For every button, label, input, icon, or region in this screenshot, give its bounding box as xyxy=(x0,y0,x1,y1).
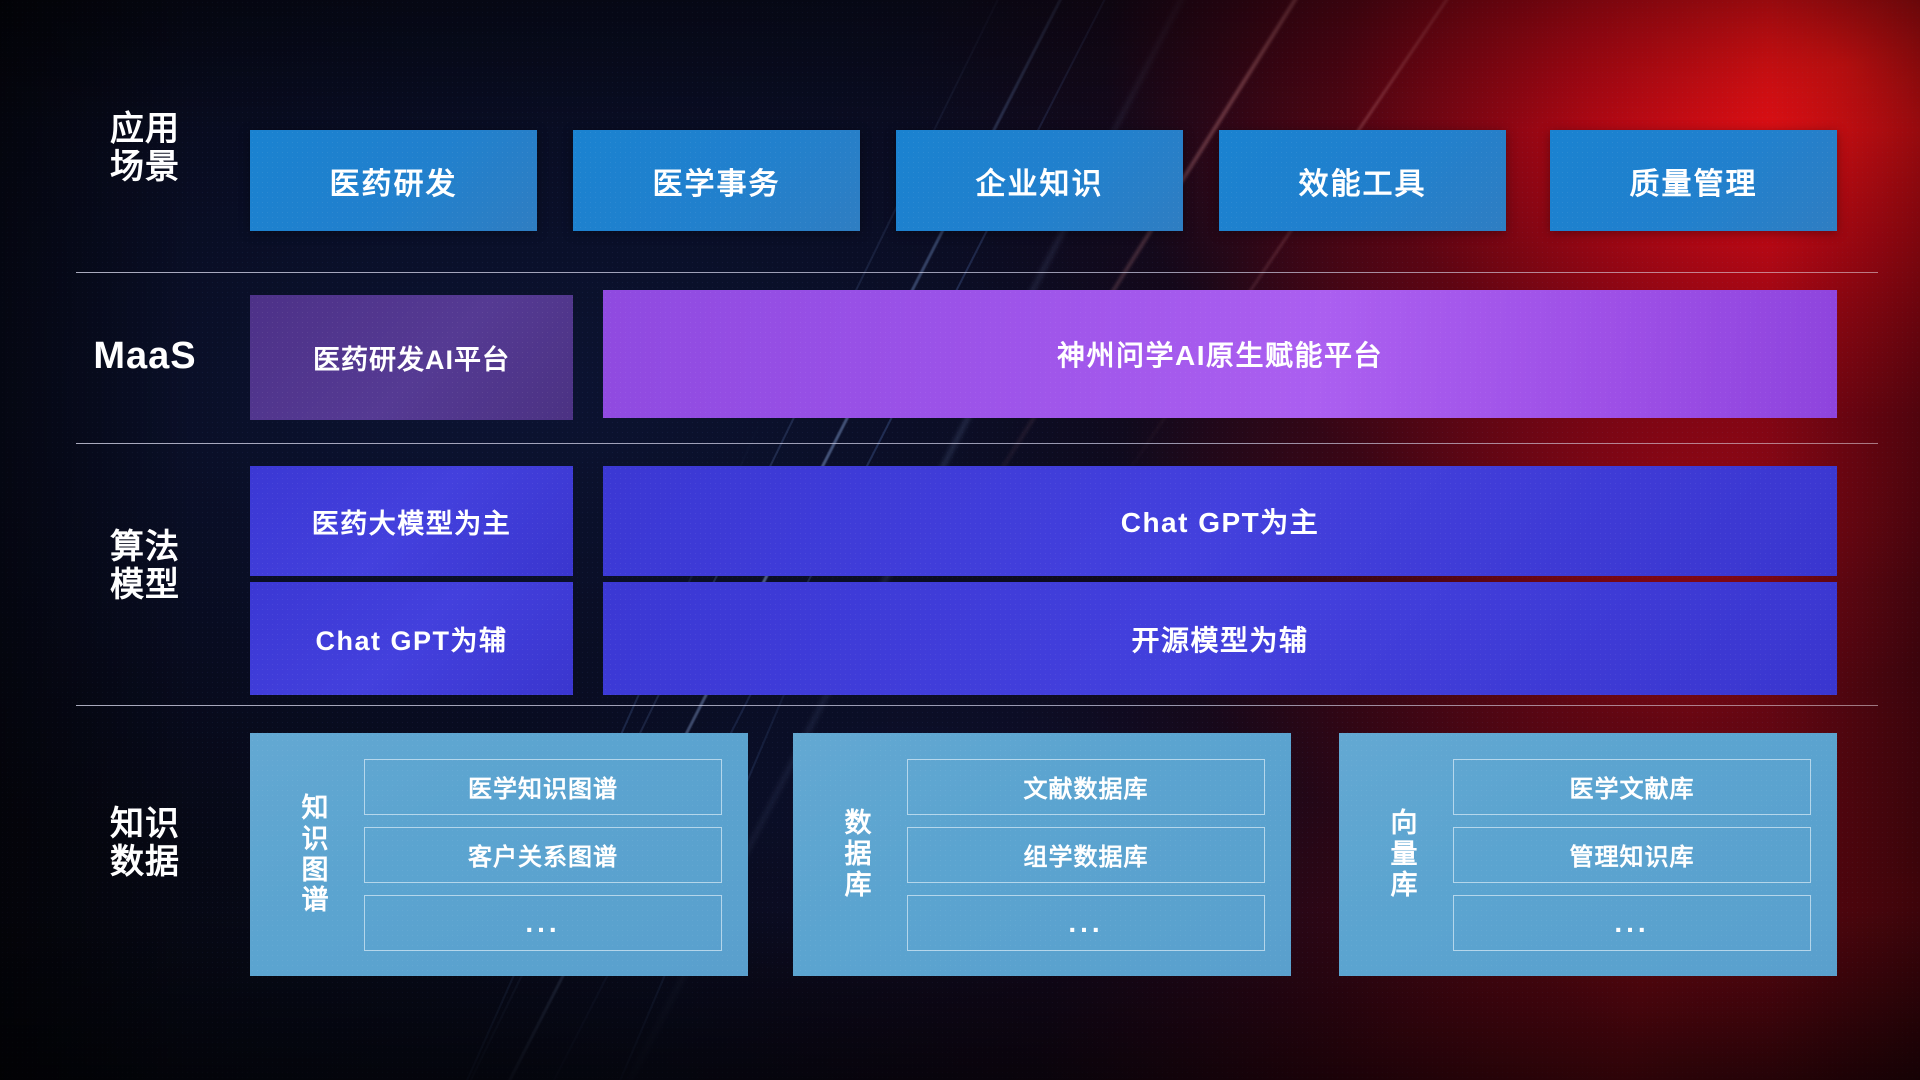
knowledge-item[interactable]: 管理知识库 xyxy=(1453,827,1811,883)
knowledge-item[interactable]: 医学知识图谱 xyxy=(364,759,722,815)
app-scenario-box-2[interactable]: 医学事务 xyxy=(573,130,860,231)
knowledge-item-more[interactable]: ... xyxy=(1453,895,1811,951)
architecture-diagram: 应用 场景 医药研发 医学事务 企业知识 效能工具 质量管理 MaaS 医药研发… xyxy=(0,0,1920,1080)
row-divider-3 xyxy=(76,705,1878,706)
row-label-maas: MaaS xyxy=(76,335,214,378)
maas-platform-box-left[interactable]: 医药研发AI平台 xyxy=(250,295,573,420)
knowledge-panel-3[interactable]: 向 量 库 医学文献库 管理知识库 ... xyxy=(1339,733,1837,976)
app-scenario-box-4[interactable]: 效能工具 xyxy=(1219,130,1506,231)
knowledge-item-more[interactable]: ... xyxy=(907,895,1265,951)
knowledge-item[interactable]: 组学数据库 xyxy=(907,827,1265,883)
knowledge-item[interactable]: 客户关系图谱 xyxy=(364,827,722,883)
app-scenario-box-5[interactable]: 质量管理 xyxy=(1550,130,1837,231)
knowledge-panel-3-items: 医学文献库 管理知识库 ... xyxy=(1435,759,1837,951)
algorithm-box-top-left[interactable]: 医药大模型为主 xyxy=(250,466,573,576)
knowledge-panel-2-title: 数 据 库 xyxy=(827,808,889,900)
knowledge-item[interactable]: 医学文献库 xyxy=(1453,759,1811,815)
algorithm-box-bottom-left[interactable]: Chat GPT为辅 xyxy=(250,582,573,695)
knowledge-panel-2-items: 文献数据库 组学数据库 ... xyxy=(889,759,1291,951)
knowledge-panel-1-items: 医学知识图谱 客户关系图谱 ... xyxy=(346,759,748,951)
knowledge-panel-1-title: 知 识 图 谱 xyxy=(284,793,346,916)
algorithm-box-top-right[interactable]: Chat GPT为主 xyxy=(603,466,1837,576)
knowledge-panel-2[interactable]: 数 据 库 文献数据库 组学数据库 ... xyxy=(793,733,1291,976)
row-label-application: 应用 场景 xyxy=(76,110,214,186)
app-scenario-box-3[interactable]: 企业知识 xyxy=(896,130,1183,231)
row-divider-2 xyxy=(76,443,1878,444)
knowledge-item[interactable]: 文献数据库 xyxy=(907,759,1265,815)
row-label-knowledge: 知识 数据 xyxy=(76,805,214,881)
knowledge-item-more[interactable]: ... xyxy=(364,895,722,951)
app-scenario-box-1[interactable]: 医药研发 xyxy=(250,130,537,231)
row-divider-1 xyxy=(76,272,1878,273)
knowledge-panel-1[interactable]: 知 识 图 谱 医学知识图谱 客户关系图谱 ... xyxy=(250,733,748,976)
maas-platform-box-right[interactable]: 神州问学AI原生赋能平台 xyxy=(603,290,1837,418)
row-label-algorithm: 算法 模型 xyxy=(76,528,214,604)
knowledge-panel-3-title: 向 量 库 xyxy=(1373,808,1435,900)
algorithm-box-bottom-right[interactable]: 开源模型为辅 xyxy=(603,582,1837,695)
